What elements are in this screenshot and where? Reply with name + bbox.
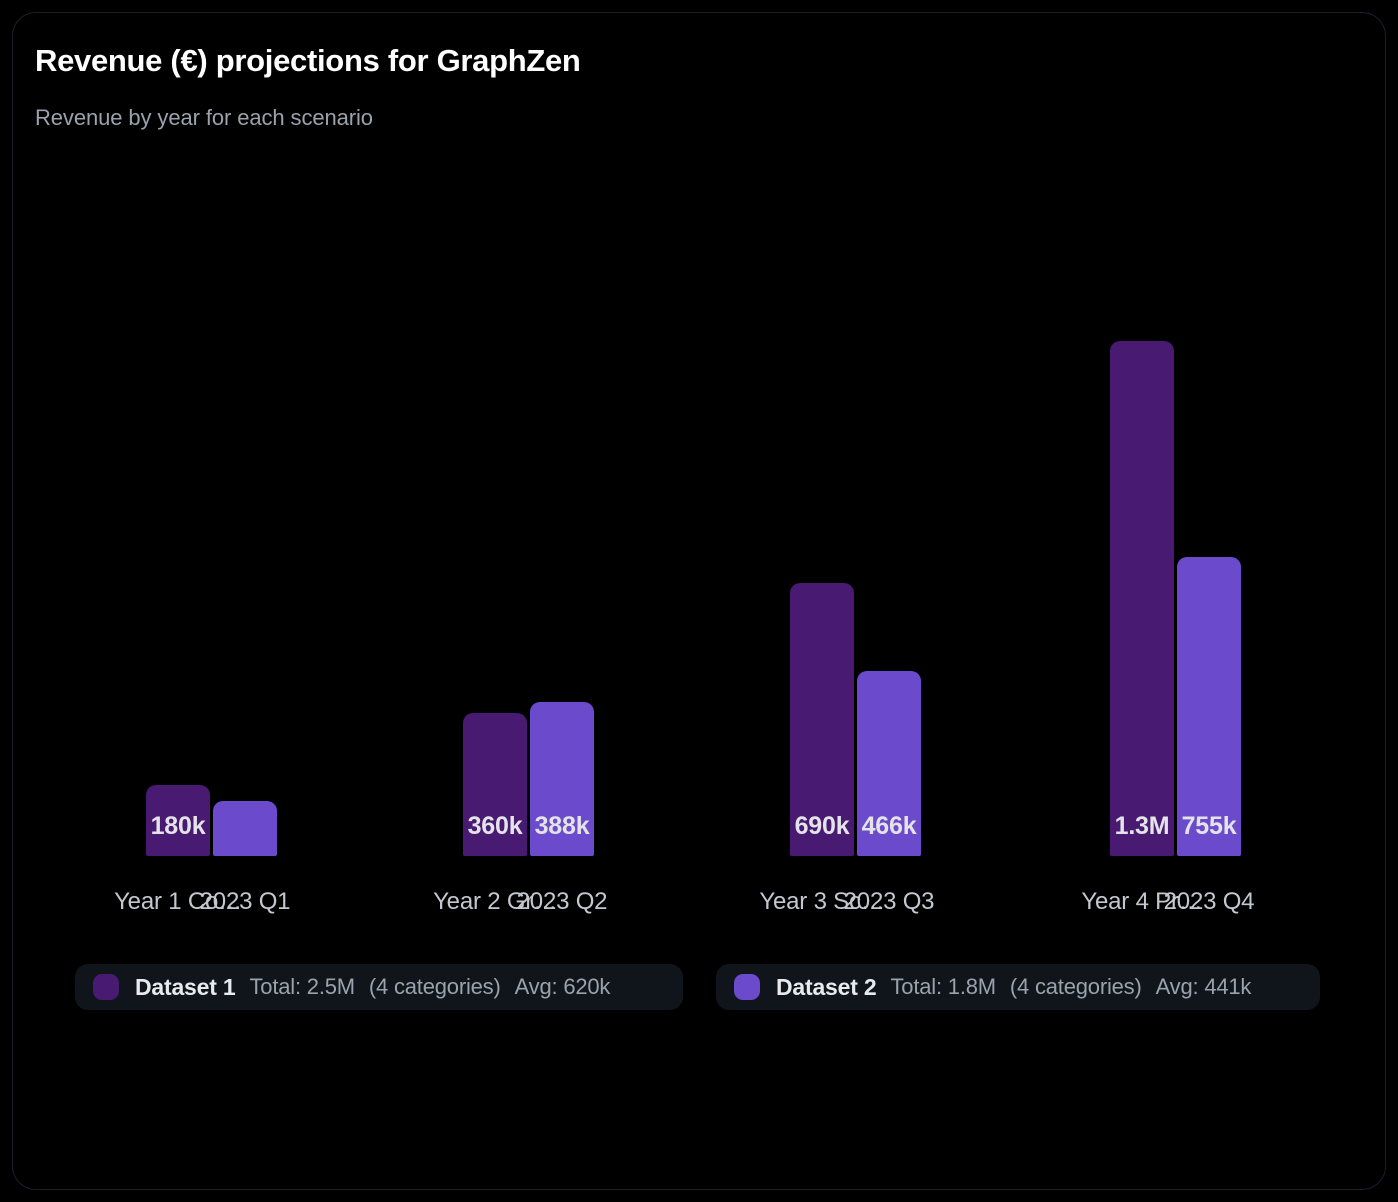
legend-total-dataset-1: Total: 2.5M — [249, 974, 354, 1000]
bar-value-label: 755k — [1171, 812, 1247, 841]
legend-swatch-dataset-1 — [93, 974, 119, 1000]
legend-label-dataset-2: Dataset 2 — [776, 974, 876, 1001]
x-axis-label-8: 2023 Q4 — [1129, 888, 1289, 916]
legend-item-dataset-2[interactable]: Dataset 2 Total: 1.8M (4 categories) Avg… — [716, 964, 1320, 1010]
bar-value-label: 180k — [140, 812, 216, 841]
bar-value-label: 360k — [457, 812, 533, 841]
x-axis-label-4: 2023 Q2 — [482, 888, 642, 916]
chart-card: Revenue (€) projections for GraphZen Rev… — [12, 12, 1386, 1190]
chart-plot-area: 180k360k690k1.3M388k466k755kYear 1 Co…20… — [13, 13, 1386, 1190]
legend-swatch-dataset-2 — [734, 974, 760, 1000]
legend-categories-dataset-2: (4 categories) — [1010, 974, 1142, 1000]
legend-categories-dataset-1: (4 categories) — [369, 974, 501, 1000]
legend-label-dataset-1: Dataset 1 — [135, 974, 235, 1001]
legend-total-dataset-2: Total: 1.8M — [890, 974, 995, 1000]
bar-value-label: 388k — [524, 812, 600, 841]
legend-avg-dataset-1: Avg: 620k — [515, 974, 611, 1000]
bar-value-label: 466k — [851, 812, 927, 841]
x-axis-label-6: 2023 Q3 — [809, 888, 969, 916]
bar-value-label: 690k — [784, 812, 860, 841]
legend-avg-dataset-2: Avg: 441k — [1156, 974, 1252, 1000]
bar-2-1[interactable] — [213, 801, 277, 856]
legend-item-dataset-1[interactable]: Dataset 1 Total: 2.5M (4 categories) Avg… — [75, 964, 683, 1010]
bar-1-4[interactable] — [1110, 341, 1174, 856]
x-axis-label-2: 2023 Q1 — [165, 888, 325, 916]
bar-value-label: 1.3M — [1104, 812, 1180, 841]
